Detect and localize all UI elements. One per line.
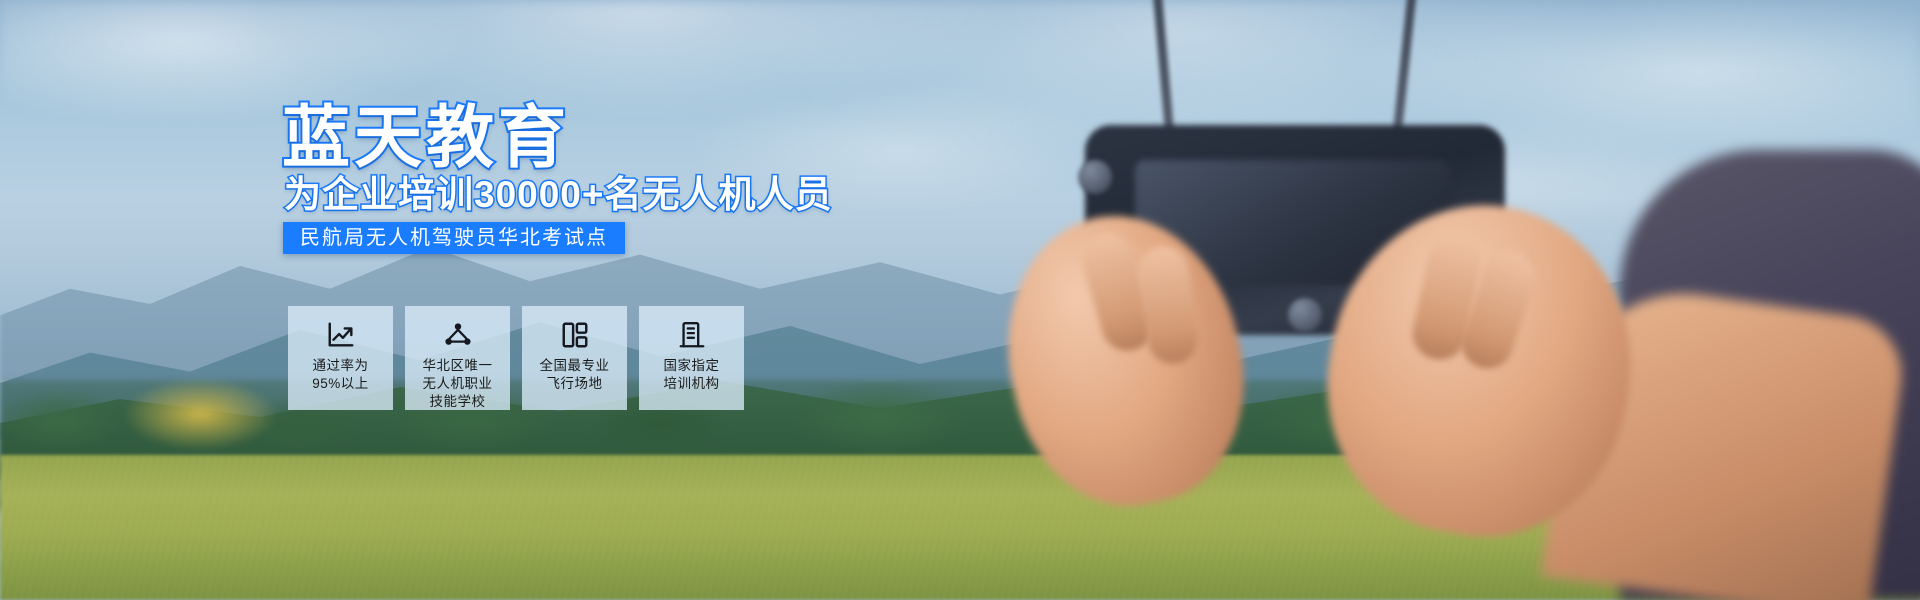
feature-card-list: 通过率为 95%以上 华北区唯一 无人机职业 技能学校 — [288, 306, 744, 410]
feature-card-label: 通过率为 95%以上 — [312, 357, 369, 393]
feature-card-label: 全国最专业 飞行场地 — [540, 357, 610, 393]
banner-subtitle: 为企业培训30000+名无人机人员 — [284, 164, 833, 218]
feature-card-label: 国家指定 培训机构 — [664, 357, 720, 393]
layout-panels-icon — [560, 320, 590, 350]
feature-card-pass-rate[interactable]: 通过率为 95%以上 — [288, 306, 393, 410]
network-nodes-icon — [443, 320, 473, 350]
feature-card-flight-field[interactable]: 全国最专业 飞行场地 — [522, 306, 627, 410]
certification-badge: 民航局无人机驾驶员华北考试点 — [283, 222, 625, 254]
feature-card-national-institution[interactable]: 国家指定 培训机构 — [639, 306, 744, 410]
banner-content: 蓝天教育 为企业培训30000+名无人机人员 民航局无人机驾驶员华北考试点 通过… — [0, 0, 1920, 600]
feature-card-only-school[interactable]: 华北区唯一 无人机职业 技能学校 — [405, 306, 510, 410]
feature-card-label: 华北区唯一 无人机职业 技能学校 — [423, 357, 493, 411]
chart-up-icon — [326, 320, 356, 350]
building-icon — [677, 320, 707, 350]
hero-banner: 蓝天教育 为企业培训30000+名无人机人员 民航局无人机驾驶员华北考试点 通过… — [0, 0, 1920, 600]
